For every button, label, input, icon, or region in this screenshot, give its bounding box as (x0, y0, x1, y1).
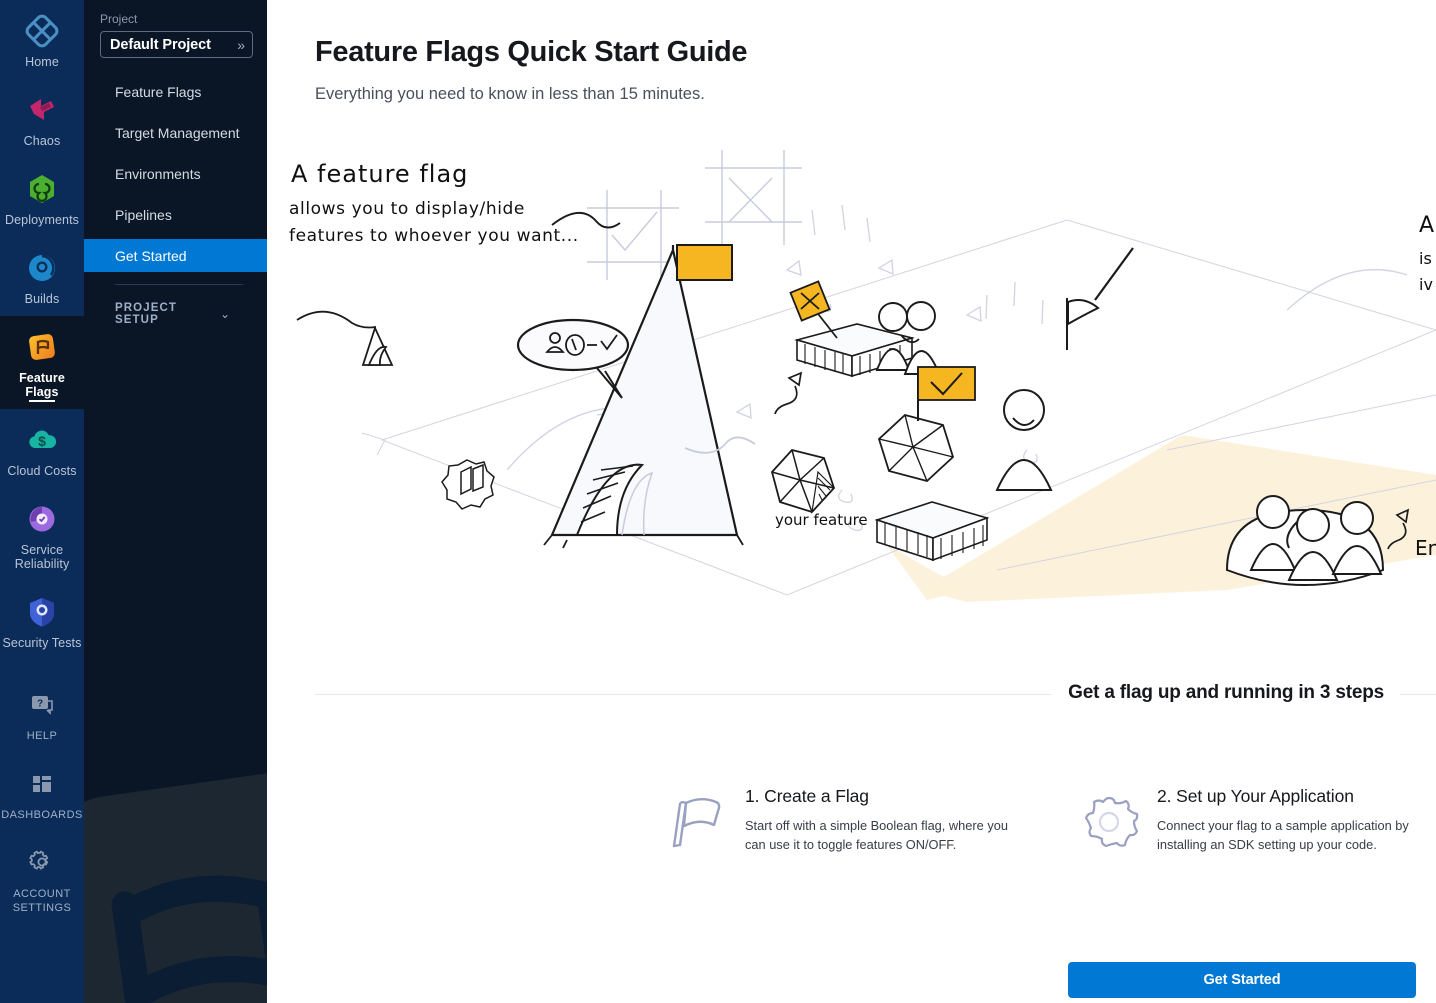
rail-item-cloud-costs[interactable]: $ Cloud Costs (0, 409, 84, 488)
rail-item-label: Home (25, 55, 59, 69)
dashboards-icon (25, 767, 59, 801)
module-rail: Home Chaos Deployments Builds (0, 0, 84, 1003)
builds-icon (25, 251, 59, 285)
rail-item-home[interactable]: Home (0, 0, 84, 79)
illustration-note-line3: features to whoever you want... (289, 226, 579, 246)
illustration-label-right-2: is (1419, 249, 1432, 268)
sidebar-item-label: Target Management (115, 125, 240, 141)
rail-item-label: Builds (25, 292, 60, 306)
sidebar-item-label: Environments (115, 166, 201, 182)
illustration-label-your-feature: your feature (775, 511, 868, 529)
hero-illustration: A feature flag allows you to display/hid… (267, 150, 1436, 670)
project-selector[interactable]: Default Project » (100, 31, 253, 58)
rail-item-builds[interactable]: Builds (0, 237, 84, 316)
rail-item-label: HELP (27, 729, 58, 743)
step-title: 1. Create a Flag (745, 786, 1013, 807)
rail-item-label: Cloud Costs (7, 464, 76, 478)
step-create-a-flag: 1. Create a Flag Start off with a simple… (667, 786, 1079, 854)
project-nav-panel: Project Default Project » Feature Flags … (84, 0, 267, 1003)
rail-item-feature-flags[interactable]: Feature Flags (0, 316, 84, 409)
gear-icon (25, 846, 59, 880)
flag-outline-icon (667, 792, 727, 852)
rail-item-label: Feature Flags (2, 371, 82, 399)
step-set-up-your-application: 2. Set up Your Application Connect your … (1079, 786, 1436, 854)
steps-heading: Get a flag up and running in 3 steps (1052, 682, 1400, 704)
help-icon: ? (25, 688, 59, 722)
sidebar-item-environments[interactable]: Environments (84, 157, 267, 190)
home-diamond-icon (25, 14, 59, 48)
rail-item-chaos[interactable]: Chaos (0, 79, 84, 158)
project-selector-value: Default Project (110, 37, 211, 53)
illustration-label-right-1: A (1419, 213, 1434, 238)
illustration-label-env: En (1415, 536, 1436, 560)
sidebar-item-label: Pipelines (115, 207, 172, 223)
steps-list: 1. Create a Flag Start off with a simple… (667, 786, 1436, 854)
project-nav-list: Feature Flags Target Management Environm… (84, 75, 267, 272)
rail-item-help[interactable]: ? HELP (0, 674, 84, 753)
feature-flag-sketch-illustration: A feature flag allows you to display/hid… (267, 150, 1436, 670)
sidebar-item-get-started[interactable]: Get Started (84, 239, 267, 272)
page-title: Feature Flags Quick Start Guide (315, 36, 747, 69)
get-started-button[interactable]: Get Started (1068, 962, 1416, 998)
chevron-double-right-icon: » (237, 38, 245, 52)
rail-item-label: ACCOUNT SETTINGS (2, 887, 82, 915)
sidebar-item-label: Feature Flags (115, 84, 201, 100)
rail-item-label: Deployments (5, 213, 79, 227)
sidebar-item-label: Get Started (115, 248, 187, 264)
service-reliability-icon (25, 502, 59, 536)
gear-outline-icon (1079, 792, 1139, 852)
svg-text:$: $ (38, 433, 46, 449)
chaos-icon (25, 93, 59, 127)
rail-item-label: Chaos (24, 134, 61, 148)
rail-item-deployments[interactable]: Deployments (0, 158, 84, 237)
rail-item-security-tests[interactable]: Security Tests (0, 581, 84, 660)
project-setup-label: PROJECT SETUP (115, 302, 220, 326)
flag-watermark-icon (84, 773, 267, 1003)
rail-item-label: DASHBOARDS (1, 808, 83, 822)
cloud-costs-icon: $ (25, 423, 59, 457)
rail-item-service-reliability[interactable]: Service Reliability (0, 488, 84, 581)
sidebar-item-feature-flags[interactable]: Feature Flags (84, 75, 267, 108)
illustration-note-line1: A feature flag (291, 160, 468, 188)
illustration-note-line2: allows you to display/hide (289, 199, 525, 219)
svg-text:?: ? (37, 699, 43, 710)
main-content: Feature Flags Quick Start Guide Everythi… (267, 0, 1436, 1003)
illustration-label-right-3: iv (1419, 275, 1433, 294)
deployments-icon (25, 172, 59, 206)
security-tests-icon (25, 595, 59, 629)
sidebar-item-target-management[interactable]: Target Management (84, 116, 267, 149)
step-text: 2. Set up Your Application Connect your … (1157, 786, 1425, 854)
feature-flags-icon (25, 330, 59, 364)
step-title: 2. Set up Your Application (1157, 786, 1425, 807)
sidebar-item-pipelines[interactable]: Pipelines (84, 198, 267, 231)
step-description: Connect your flag to a sample applicatio… (1157, 816, 1425, 854)
project-label: Project (84, 10, 267, 31)
page-subtitle: Everything you need to know in less than… (315, 85, 705, 104)
step-description: Start off with a simple Boolean flag, wh… (745, 816, 1013, 854)
project-setup-toggle[interactable]: PROJECT SETUP ⌄ (84, 285, 267, 326)
rail-item-label: Security Tests (3, 636, 82, 650)
step-text: 1. Create a Flag Start off with a simple… (745, 786, 1013, 854)
rail-item-label: Service Reliability (2, 543, 82, 571)
chevron-down-icon: ⌄ (220, 307, 230, 321)
app-root: Home Chaos Deployments Builds (0, 0, 1436, 1003)
rail-item-dashboards[interactable]: DASHBOARDS (0, 753, 84, 832)
rail-item-account-settings[interactable]: ACCOUNT SETTINGS (0, 832, 84, 925)
